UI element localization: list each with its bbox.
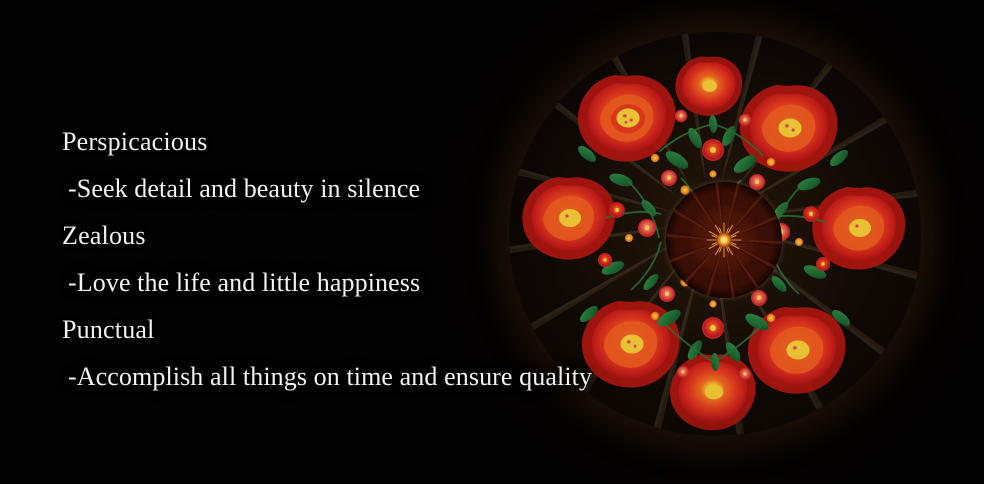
virtue-group-punctual: Punctual -Accomplish all things on time … bbox=[62, 306, 682, 400]
virtue-heading-punctual: Punctual bbox=[62, 306, 682, 353]
virtue-group-zealous: Zealous -Love the life and little happin… bbox=[62, 212, 682, 306]
virtue-detail-perspicacious: -Seek detail and beauty in silence bbox=[62, 165, 682, 212]
virtue-group-perspicacious: Perspicacious -Seek detail and beauty in… bbox=[62, 118, 682, 212]
virtue-detail-punctual: -Accomplish all things on time and ensur… bbox=[62, 353, 682, 400]
virtues-text-block: Perspicacious -Seek detail and beauty in… bbox=[62, 118, 682, 400]
virtue-heading-perspicacious: Perspicacious bbox=[62, 118, 682, 165]
slide-canvas: Perspicacious -Seek detail and beauty in… bbox=[0, 0, 984, 484]
virtue-heading-zealous: Zealous bbox=[62, 212, 682, 259]
virtue-detail-zealous: -Love the life and little happiness bbox=[62, 259, 682, 306]
